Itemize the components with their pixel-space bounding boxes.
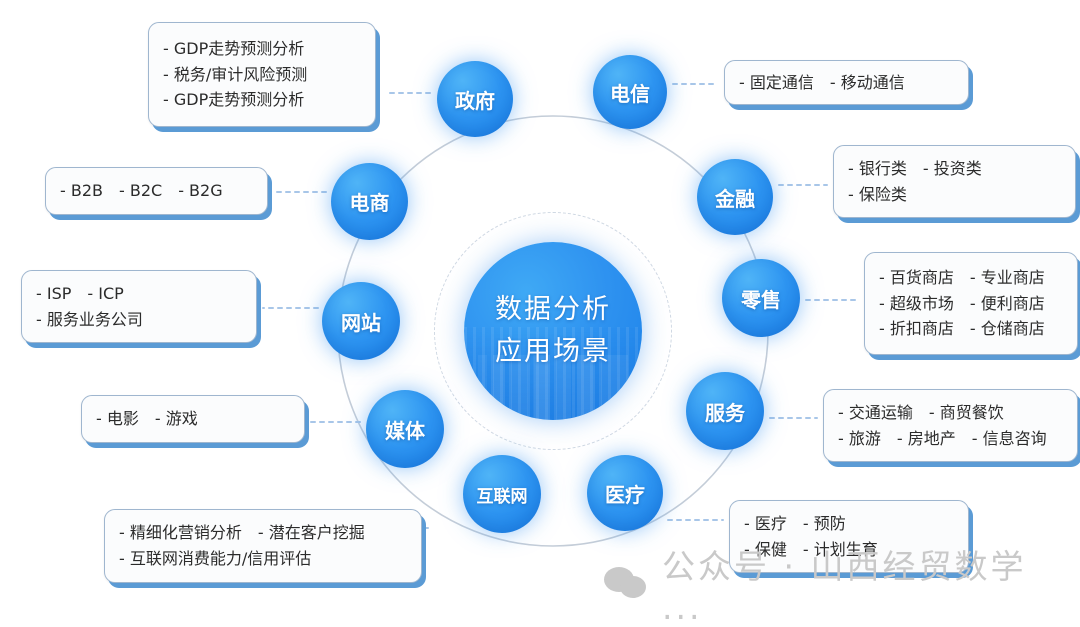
government-box: - GDP走势预测分析- 税务/审计风险预测- GDP走势预测分析 <box>148 22 376 127</box>
info-item: - 固定通信 <box>739 70 814 96</box>
info-line: - 折扣商店- 仓储商店 <box>879 316 1063 342</box>
info-item: - B2G <box>178 178 222 204</box>
info-item: - 旅游 <box>838 426 881 452</box>
node-government[interactable]: 政府 <box>437 61 513 137</box>
info-line: - 互联网消费能力/信用评估 <box>119 546 407 572</box>
info-item: - 折扣商店 <box>879 316 954 342</box>
info-line: - B2B- B2C- B2G <box>60 178 253 204</box>
node-label: 电商 <box>350 187 390 216</box>
hub-label-line2: 应用场景 <box>495 331 611 373</box>
internet-box: - 精细化营销分析- 潜在客户挖掘- 互联网消费能力/信用评估 <box>104 509 422 583</box>
node-website[interactable]: 网站 <box>322 282 400 360</box>
info-item: - 保险类 <box>848 182 907 208</box>
info-item: - 电影 <box>96 406 139 432</box>
wechat-icon <box>604 565 650 603</box>
info-item: - 银行类 <box>848 156 907 182</box>
watermark-text: 公众号 · 山西经贸数学 ... <box>662 540 1080 627</box>
info-item: - GDP走势预测分析 <box>163 36 304 62</box>
hub-label-line1: 数据分析 <box>495 289 611 331</box>
info-line: - 电影- 游戏 <box>96 406 290 432</box>
info-item: - 专业商店 <box>970 265 1045 291</box>
info-line: - 医疗- 预防 <box>744 511 954 537</box>
info-line: - 保险类 <box>848 182 1061 208</box>
info-item: - 预防 <box>803 511 846 537</box>
node-label: 互联网 <box>477 482 528 507</box>
website-box: - ISP- ICP- 服务业务公司 <box>21 270 257 343</box>
info-item: - 房地产 <box>897 426 956 452</box>
info-item: - 服务业务公司 <box>36 307 143 333</box>
retail-box: - 百货商店- 专业商店- 超级市场- 便利商店- 折扣商店- 仓储商店 <box>864 252 1078 355</box>
media-box: - 电影- 游戏 <box>81 395 305 443</box>
info-item: - 百货商店 <box>879 265 954 291</box>
node-label: 媒体 <box>385 415 425 444</box>
ecommerce-box: - B2B- B2C- B2G <box>45 167 268 215</box>
hub-label: 数据分析 应用场景 <box>464 242 642 420</box>
info-item: - 投资类 <box>923 156 982 182</box>
watermark: 公众号 · 山西经贸数学 ... <box>604 540 1080 627</box>
info-line: - 服务业务公司 <box>36 307 242 333</box>
info-line: - ISP- ICP <box>36 281 242 307</box>
node-media[interactable]: 媒体 <box>366 390 444 468</box>
node-service[interactable]: 服务 <box>686 372 764 450</box>
node-finance[interactable]: 金融 <box>697 159 773 235</box>
info-line: - 交通运输- 商贸餐饮 <box>838 400 1063 426</box>
info-item: - B2C <box>119 178 162 204</box>
info-item: - ISP <box>36 281 71 307</box>
node-medical[interactable]: 医疗 <box>587 455 663 531</box>
info-line: - 百货商店- 专业商店 <box>879 265 1063 291</box>
info-item: - B2B <box>60 178 103 204</box>
node-label: 零售 <box>741 284 781 313</box>
node-label: 金融 <box>715 183 755 212</box>
info-item: - 移动通信 <box>830 70 905 96</box>
info-line: - 精细化营销分析- 潜在客户挖掘 <box>119 520 407 546</box>
info-item: - 超级市场 <box>879 291 954 317</box>
node-telecom[interactable]: 电信 <box>593 55 667 129</box>
info-item: - 游戏 <box>155 406 198 432</box>
info-line: - 旅游- 房地产- 信息咨询 <box>838 426 1063 452</box>
node-internet[interactable]: 互联网 <box>463 455 541 533</box>
node-label: 政府 <box>455 85 495 114</box>
info-item: - 仓储商店 <box>970 316 1045 342</box>
info-item: - GDP走势预测分析 <box>163 87 304 113</box>
info-line: - 固定通信- 移动通信 <box>739 70 954 96</box>
telecom-box: - 固定通信- 移动通信 <box>724 60 969 105</box>
info-line: - 银行类- 投资类 <box>848 156 1061 182</box>
info-item: - ICP <box>87 281 123 307</box>
service-box: - 交通运输- 商贸餐饮- 旅游- 房地产- 信息咨询 <box>823 389 1078 462</box>
diagram-canvas: 数据分析 应用场景 政府电信金融零售服务医疗互联网媒体网站电商 - GDP走势预… <box>0 0 1080 611</box>
finance-box: - 银行类- 投资类- 保险类 <box>833 145 1076 218</box>
info-line: - GDP走势预测分析 <box>163 87 361 113</box>
info-item: - 潜在客户挖掘 <box>258 520 365 546</box>
info-line: - GDP走势预测分析 <box>163 36 361 62</box>
node-retail[interactable]: 零售 <box>722 259 800 337</box>
info-item: - 医疗 <box>744 511 787 537</box>
info-item: - 信息咨询 <box>972 426 1047 452</box>
node-label: 电信 <box>610 78 650 107</box>
info-item: - 精细化营销分析 <box>119 520 242 546</box>
node-label: 服务 <box>705 397 745 426</box>
info-line: - 税务/审计风险预测 <box>163 62 361 88</box>
info-item: - 交通运输 <box>838 400 913 426</box>
node-label: 网站 <box>341 307 381 336</box>
info-item: - 商贸餐饮 <box>929 400 1004 426</box>
info-item: - 互联网消费能力/信用评估 <box>119 546 311 572</box>
info-line: - 超级市场- 便利商店 <box>879 291 1063 317</box>
info-item: - 税务/审计风险预测 <box>163 62 307 88</box>
node-ecommerce[interactable]: 电商 <box>331 163 408 240</box>
center-hub: 数据分析 应用场景 <box>464 242 642 420</box>
node-label: 医疗 <box>605 479 645 508</box>
info-item: - 便利商店 <box>970 291 1045 317</box>
